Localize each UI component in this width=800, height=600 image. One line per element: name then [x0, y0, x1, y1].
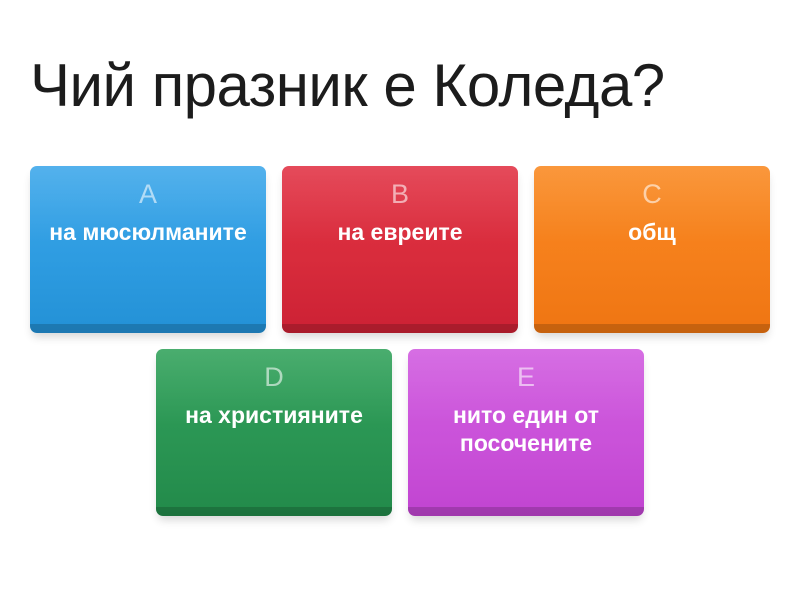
answer-card-b[interactable]: B на евреите [282, 166, 518, 333]
quiz-stage: Чий празник е Коледа? A на мюсюлманите B… [0, 0, 800, 600]
answer-text-e: нито един от посочените [418, 401, 634, 457]
answer-card-e[interactable]: E нито един от посочените [408, 349, 644, 516]
answer-letter-c: C [642, 178, 662, 210]
answer-row-2: D на християните E нито един от посочени… [0, 349, 800, 516]
answer-letter-d: D [264, 361, 284, 393]
answer-text-b: на евреите [333, 218, 466, 246]
answer-letter-b: B [391, 178, 409, 210]
question-title: Чий празник е Коледа? [30, 52, 775, 120]
answer-text-d: на християните [181, 401, 367, 429]
answer-card-a[interactable]: A на мюсюлманите [30, 166, 266, 333]
answer-options-grid: A на мюсюлманите B на евреите C общ D на… [0, 166, 800, 516]
answer-card-c[interactable]: C общ [534, 166, 770, 333]
answer-card-d[interactable]: D на християните [156, 349, 392, 516]
answer-row-1: A на мюсюлманите B на евреите C общ [0, 166, 800, 333]
answer-letter-a: A [139, 178, 157, 210]
answer-letter-e: E [517, 361, 535, 393]
answer-text-a: на мюсюлманите [45, 218, 251, 246]
answer-text-c: общ [624, 218, 680, 246]
